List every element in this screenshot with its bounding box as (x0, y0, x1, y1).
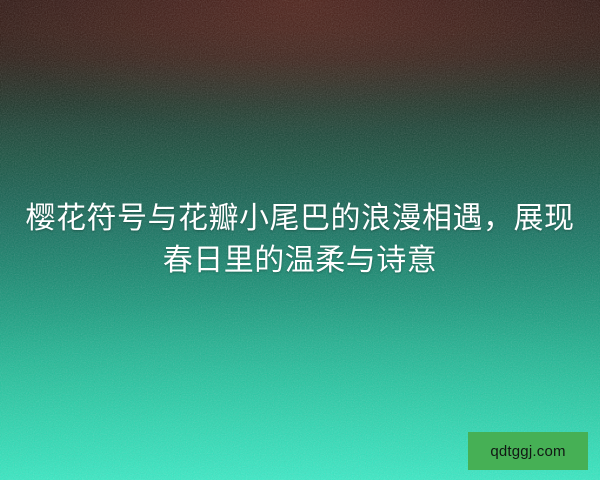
watermark-badge: qdtggj.com (468, 432, 588, 470)
watermark-label: qdtggj.com (490, 444, 565, 459)
image-card: 樱花符号与花瓣小尾巴的浪漫相遇，展现 春日里的温柔与诗意 qdtggj.com (0, 0, 600, 480)
card-title-line-1: 樱花符号与花瓣小尾巴的浪漫相遇，展现 (24, 198, 576, 240)
card-title-line-2: 春日里的温柔与诗意 (24, 240, 576, 282)
card-title: 樱花符号与花瓣小尾巴的浪漫相遇，展现 春日里的温柔与诗意 (0, 198, 600, 282)
